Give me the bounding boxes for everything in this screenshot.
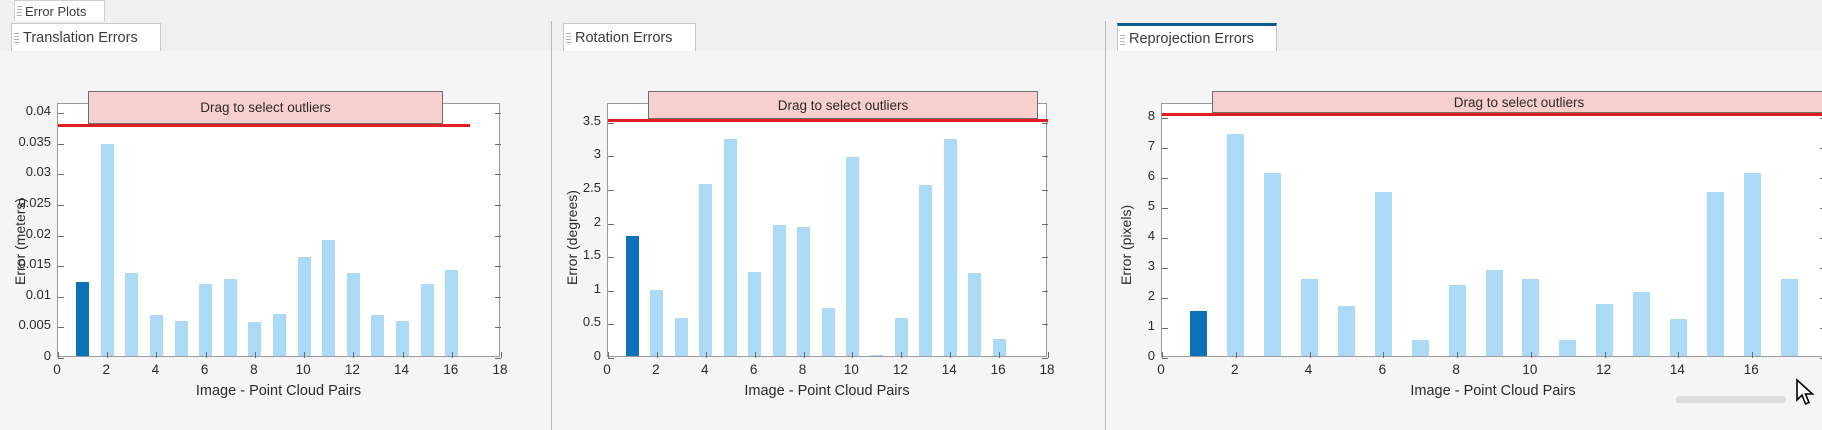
x-tick-mark bbox=[206, 352, 207, 358]
plot-area-reprojection-errors[interactable]: Drag to select outliers01234567802468101… bbox=[1106, 51, 1822, 430]
chart-bar[interactable] bbox=[347, 273, 360, 356]
y-tick-mark bbox=[495, 266, 501, 267]
chart-bar[interactable] bbox=[1301, 279, 1318, 356]
x-tick-mark bbox=[950, 352, 951, 358]
drag-to-select-outliers-band[interactable]: Drag to select outliers bbox=[88, 91, 443, 124]
y-tick-mark bbox=[58, 297, 64, 298]
y-tick-mark bbox=[495, 205, 501, 206]
error-plots-window: Error Plots Translation Errors Drag to s… bbox=[0, 0, 1822, 430]
tab-label: Rotation Errors bbox=[575, 30, 673, 46]
chart-bar[interactable] bbox=[797, 227, 810, 356]
y-tick-label: 0.03 bbox=[1, 164, 51, 179]
y-tick-label: 0.5 bbox=[552, 314, 601, 329]
chart-bar[interactable] bbox=[199, 284, 212, 356]
y-tick-mark bbox=[1042, 358, 1048, 359]
x-tick-mark bbox=[706, 352, 707, 358]
chart-bar[interactable] bbox=[675, 318, 688, 356]
y-tick-mark bbox=[1042, 224, 1048, 225]
y-tick-mark bbox=[1162, 238, 1168, 239]
x-axis-label: Image - Point Cloud Pairs bbox=[607, 383, 1047, 399]
y-tick-label: 0.005 bbox=[1, 317, 51, 332]
y-tick-mark bbox=[1162, 358, 1168, 359]
chart-bar[interactable] bbox=[1449, 285, 1466, 356]
tab-rotation-errors[interactable]: Rotation Errors bbox=[563, 23, 696, 52]
x-tick-label: 14 bbox=[929, 362, 969, 377]
y-tick-label: 2 bbox=[1106, 288, 1155, 303]
y-tick-mark bbox=[58, 174, 64, 175]
chart-bar[interactable] bbox=[1744, 173, 1761, 356]
x-tick-label: 6 bbox=[185, 362, 225, 377]
x-tick-mark bbox=[1162, 352, 1163, 358]
chart-bar[interactable] bbox=[371, 315, 384, 356]
chart-bar[interactable] bbox=[1190, 311, 1207, 356]
y-tick-mark bbox=[1042, 156, 1048, 157]
x-tick-mark bbox=[452, 352, 453, 358]
chart-bar[interactable] bbox=[101, 144, 114, 356]
x-tick-label: 4 bbox=[135, 362, 175, 377]
x-tick-label: 4 bbox=[685, 362, 725, 377]
y-tick-mark bbox=[608, 257, 614, 258]
panel-tab-row-2: Reprojection Errors bbox=[1106, 21, 1822, 52]
x-tick-label: 0 bbox=[587, 362, 627, 377]
chart-bar[interactable] bbox=[445, 270, 458, 356]
x-tick-label: 4 bbox=[1289, 362, 1329, 377]
chart-bar[interactable] bbox=[895, 318, 908, 356]
x-tick-mark bbox=[255, 352, 256, 358]
x-tick-label: 0 bbox=[1141, 362, 1181, 377]
chart-bar[interactable] bbox=[1264, 173, 1281, 356]
x-tick-mark bbox=[1457, 352, 1458, 358]
panel-tab-row-0: Translation Errors bbox=[0, 21, 551, 52]
x-tick-label: 14 bbox=[382, 362, 422, 377]
x-tick-mark bbox=[304, 352, 305, 358]
x-tick-label: 2 bbox=[86, 362, 126, 377]
x-tick-mark bbox=[755, 352, 756, 358]
chart-bar[interactable] bbox=[1412, 340, 1429, 356]
chart-bar[interactable] bbox=[1596, 304, 1613, 356]
y-tick-mark bbox=[495, 113, 501, 114]
plot-area-rotation-errors[interactable]: Drag to select outliers00.511.522.533.50… bbox=[552, 51, 1105, 430]
x-axis-label: Image - Point Cloud Pairs bbox=[57, 383, 500, 399]
chart-bar[interactable] bbox=[1486, 270, 1503, 356]
x-tick-mark bbox=[1236, 352, 1237, 358]
x-tick-mark bbox=[156, 352, 157, 358]
y-tick-mark bbox=[608, 358, 614, 359]
y-tick-mark bbox=[1162, 298, 1168, 299]
plot-area-translation-errors[interactable]: Drag to select outliers00.0050.010.0150.… bbox=[0, 51, 551, 430]
chart-bar[interactable] bbox=[699, 184, 712, 356]
tab-label: Translation Errors bbox=[23, 30, 138, 46]
y-tick-mark bbox=[608, 123, 614, 124]
chart-bar[interactable] bbox=[125, 273, 138, 356]
panel-tab-row-1: Rotation Errors bbox=[552, 21, 1105, 52]
y-tick-mark bbox=[1042, 123, 1048, 124]
x-tick-mark bbox=[901, 352, 902, 358]
y-tick-label: 0.04 bbox=[1, 103, 51, 118]
x-tick-label: 16 bbox=[978, 362, 1018, 377]
x-tick-label: 8 bbox=[234, 362, 274, 377]
x-tick-label: 18 bbox=[1027, 362, 1067, 377]
arrow-cursor-icon bbox=[1795, 378, 1817, 408]
y-tick-mark bbox=[1162, 148, 1168, 149]
x-tick-label: 2 bbox=[636, 362, 676, 377]
drag-grip-icon bbox=[1120, 35, 1125, 46]
drag-to-select-outliers-band[interactable]: Drag to select outliers bbox=[1212, 91, 1822, 113]
outlier-threshold-line[interactable] bbox=[1162, 113, 1822, 116]
x-tick-mark bbox=[1531, 352, 1532, 358]
outlier-threshold-line[interactable] bbox=[608, 119, 1048, 122]
chart-bar[interactable] bbox=[944, 139, 957, 356]
x-tick-mark bbox=[852, 352, 853, 358]
drag-grip-icon bbox=[17, 6, 22, 17]
y-tick-mark bbox=[1042, 257, 1048, 258]
chart-bar[interactable] bbox=[421, 284, 434, 356]
y-tick-label: 6 bbox=[1106, 168, 1155, 183]
chart-bar[interactable] bbox=[773, 225, 786, 356]
chart-bar[interactable] bbox=[870, 355, 883, 356]
chart-bar[interactable] bbox=[822, 308, 835, 356]
y-tick-mark bbox=[58, 266, 64, 267]
y-tick-mark bbox=[495, 327, 501, 328]
x-tick-mark bbox=[804, 352, 805, 358]
y-tick-label: 0.035 bbox=[1, 134, 51, 149]
y-tick-label: 0 bbox=[1106, 348, 1155, 363]
chart-bar[interactable] bbox=[748, 272, 761, 356]
y-tick-mark bbox=[495, 144, 501, 145]
y-tick-mark bbox=[608, 324, 614, 325]
chart-bar[interactable] bbox=[175, 321, 188, 356]
x-tick-label: 16 bbox=[1731, 362, 1771, 377]
chart-bar[interactable] bbox=[650, 290, 663, 356]
chart-bar[interactable] bbox=[724, 139, 737, 356]
x-tick-label: 6 bbox=[734, 362, 774, 377]
y-tick-mark bbox=[495, 358, 501, 359]
y-tick-mark bbox=[58, 236, 64, 237]
y-tick-label: 8 bbox=[1106, 108, 1155, 123]
x-tick-label: 8 bbox=[783, 362, 823, 377]
y-tick-mark bbox=[1162, 328, 1168, 329]
x-tick-mark bbox=[999, 352, 1000, 358]
y-tick-label: 3 bbox=[552, 146, 601, 161]
chart-bar[interactable] bbox=[1633, 292, 1650, 356]
y-tick-mark bbox=[495, 297, 501, 298]
x-tick-label: 10 bbox=[831, 362, 871, 377]
x-tick-label: 16 bbox=[431, 362, 471, 377]
chart-bar[interactable] bbox=[76, 282, 89, 356]
x-tick-mark bbox=[1752, 352, 1753, 358]
y-axis-label: Error (degrees) bbox=[564, 190, 580, 285]
y-tick-mark bbox=[608, 190, 614, 191]
x-tick-label: 2 bbox=[1215, 362, 1255, 377]
y-tick-mark bbox=[58, 113, 64, 114]
y-tick-mark bbox=[1042, 190, 1048, 191]
tab-label: Reprojection Errors bbox=[1129, 31, 1254, 47]
chart-bar[interactable] bbox=[273, 314, 286, 356]
x-tick-label: 10 bbox=[283, 362, 323, 377]
outlier-threshold-line[interactable] bbox=[58, 124, 470, 127]
chart-bar[interactable] bbox=[1522, 279, 1539, 356]
chart-bar[interactable] bbox=[1227, 134, 1244, 356]
x-tick-label: 8 bbox=[1436, 362, 1476, 377]
y-axis-label: Error (pixels) bbox=[1118, 205, 1134, 285]
x-tick-mark bbox=[1383, 352, 1384, 358]
x-tick-mark bbox=[657, 352, 658, 358]
x-tick-mark bbox=[501, 352, 502, 358]
y-tick-mark bbox=[495, 174, 501, 175]
chart-axes: Drag to select outliers bbox=[57, 103, 500, 357]
x-tick-label: 12 bbox=[332, 362, 372, 377]
x-tick-mark bbox=[58, 352, 59, 358]
y-tick-mark bbox=[495, 236, 501, 237]
y-tick-mark bbox=[608, 156, 614, 157]
chart-bar[interactable] bbox=[1375, 192, 1392, 356]
y-tick-label: 3.5 bbox=[552, 113, 601, 128]
y-tick-mark bbox=[1162, 118, 1168, 119]
y-tick-mark bbox=[608, 224, 614, 225]
chart-bar[interactable] bbox=[1670, 319, 1687, 356]
chart-bar[interactable] bbox=[1707, 192, 1724, 356]
chart-bar[interactable] bbox=[248, 322, 261, 356]
x-tick-label: 14 bbox=[1657, 362, 1697, 377]
y-tick-mark bbox=[58, 327, 64, 328]
panel-translation-errors: Translation Errors Drag to select outlie… bbox=[0, 21, 551, 430]
x-tick-label: 0 bbox=[37, 362, 77, 377]
x-tick-mark bbox=[1310, 352, 1311, 358]
horizontal-scrollbar[interactable] bbox=[1676, 396, 1786, 403]
x-tick-label: 6 bbox=[1362, 362, 1402, 377]
chart-bar[interactable] bbox=[224, 279, 237, 356]
y-tick-mark bbox=[1042, 291, 1048, 292]
drag-to-select-outliers-band[interactable]: Drag to select outliers bbox=[648, 91, 1038, 119]
chart-bar[interactable] bbox=[626, 236, 639, 356]
y-tick-mark bbox=[1042, 324, 1048, 325]
chart-bar[interactable] bbox=[968, 273, 981, 356]
chart-bar[interactable] bbox=[396, 321, 409, 356]
chart-bar[interactable] bbox=[919, 185, 932, 356]
x-tick-mark bbox=[1048, 352, 1049, 358]
y-tick-mark bbox=[1162, 178, 1168, 179]
x-tick-label: 18 bbox=[480, 362, 520, 377]
tab-reprojection-errors[interactable]: Reprojection Errors bbox=[1117, 23, 1277, 52]
document-tab-label: Error Plots bbox=[25, 4, 86, 19]
x-tick-mark bbox=[1605, 352, 1606, 358]
y-tick-label: 0.01 bbox=[1, 287, 51, 302]
y-tick-mark bbox=[1162, 208, 1168, 209]
y-tick-label: 1 bbox=[1106, 318, 1155, 333]
panel-reprojection-errors: Reprojection Errors Drag to select outli… bbox=[1106, 21, 1822, 430]
y-tick-mark bbox=[1162, 268, 1168, 269]
x-tick-label: 10 bbox=[1510, 362, 1550, 377]
y-tick-mark bbox=[58, 205, 64, 206]
chart-bar[interactable] bbox=[322, 240, 335, 356]
chart-bar[interactable] bbox=[150, 315, 163, 356]
x-tick-mark bbox=[353, 352, 354, 358]
y-tick-mark bbox=[58, 144, 64, 145]
panel-rotation-errors: Rotation Errors Drag to select outliers0… bbox=[552, 21, 1105, 430]
y-tick-mark bbox=[58, 358, 64, 359]
document-tab-bar: Error Plots bbox=[0, 0, 1822, 22]
y-tick-label: 0 bbox=[552, 348, 601, 363]
drag-grip-icon bbox=[566, 33, 571, 44]
y-tick-label: 7 bbox=[1106, 138, 1155, 153]
x-tick-label: 12 bbox=[880, 362, 920, 377]
tab-translation-errors[interactable]: Translation Errors bbox=[11, 23, 161, 52]
chart-axes: Drag to select outliers bbox=[607, 103, 1047, 357]
chart-bar[interactable] bbox=[1559, 340, 1576, 356]
x-tick-mark bbox=[107, 352, 108, 358]
chart-bar[interactable] bbox=[298, 257, 311, 356]
x-tick-mark bbox=[1678, 352, 1679, 358]
drag-grip-icon bbox=[14, 33, 19, 44]
y-tick-mark bbox=[608, 291, 614, 292]
x-tick-mark bbox=[403, 352, 404, 358]
document-tab-error-plots[interactable]: Error Plots bbox=[14, 0, 105, 22]
x-tick-mark bbox=[608, 352, 609, 358]
chart-bar[interactable] bbox=[846, 157, 859, 356]
x-tick-label: 12 bbox=[1584, 362, 1624, 377]
chart-bar[interactable] bbox=[1781, 279, 1798, 356]
chart-axes: Drag to select outliers bbox=[1161, 103, 1822, 357]
y-tick-label: 0 bbox=[1, 348, 51, 363]
y-axis-label: Error (meters) bbox=[12, 198, 28, 285]
chart-bar[interactable] bbox=[1338, 306, 1355, 356]
